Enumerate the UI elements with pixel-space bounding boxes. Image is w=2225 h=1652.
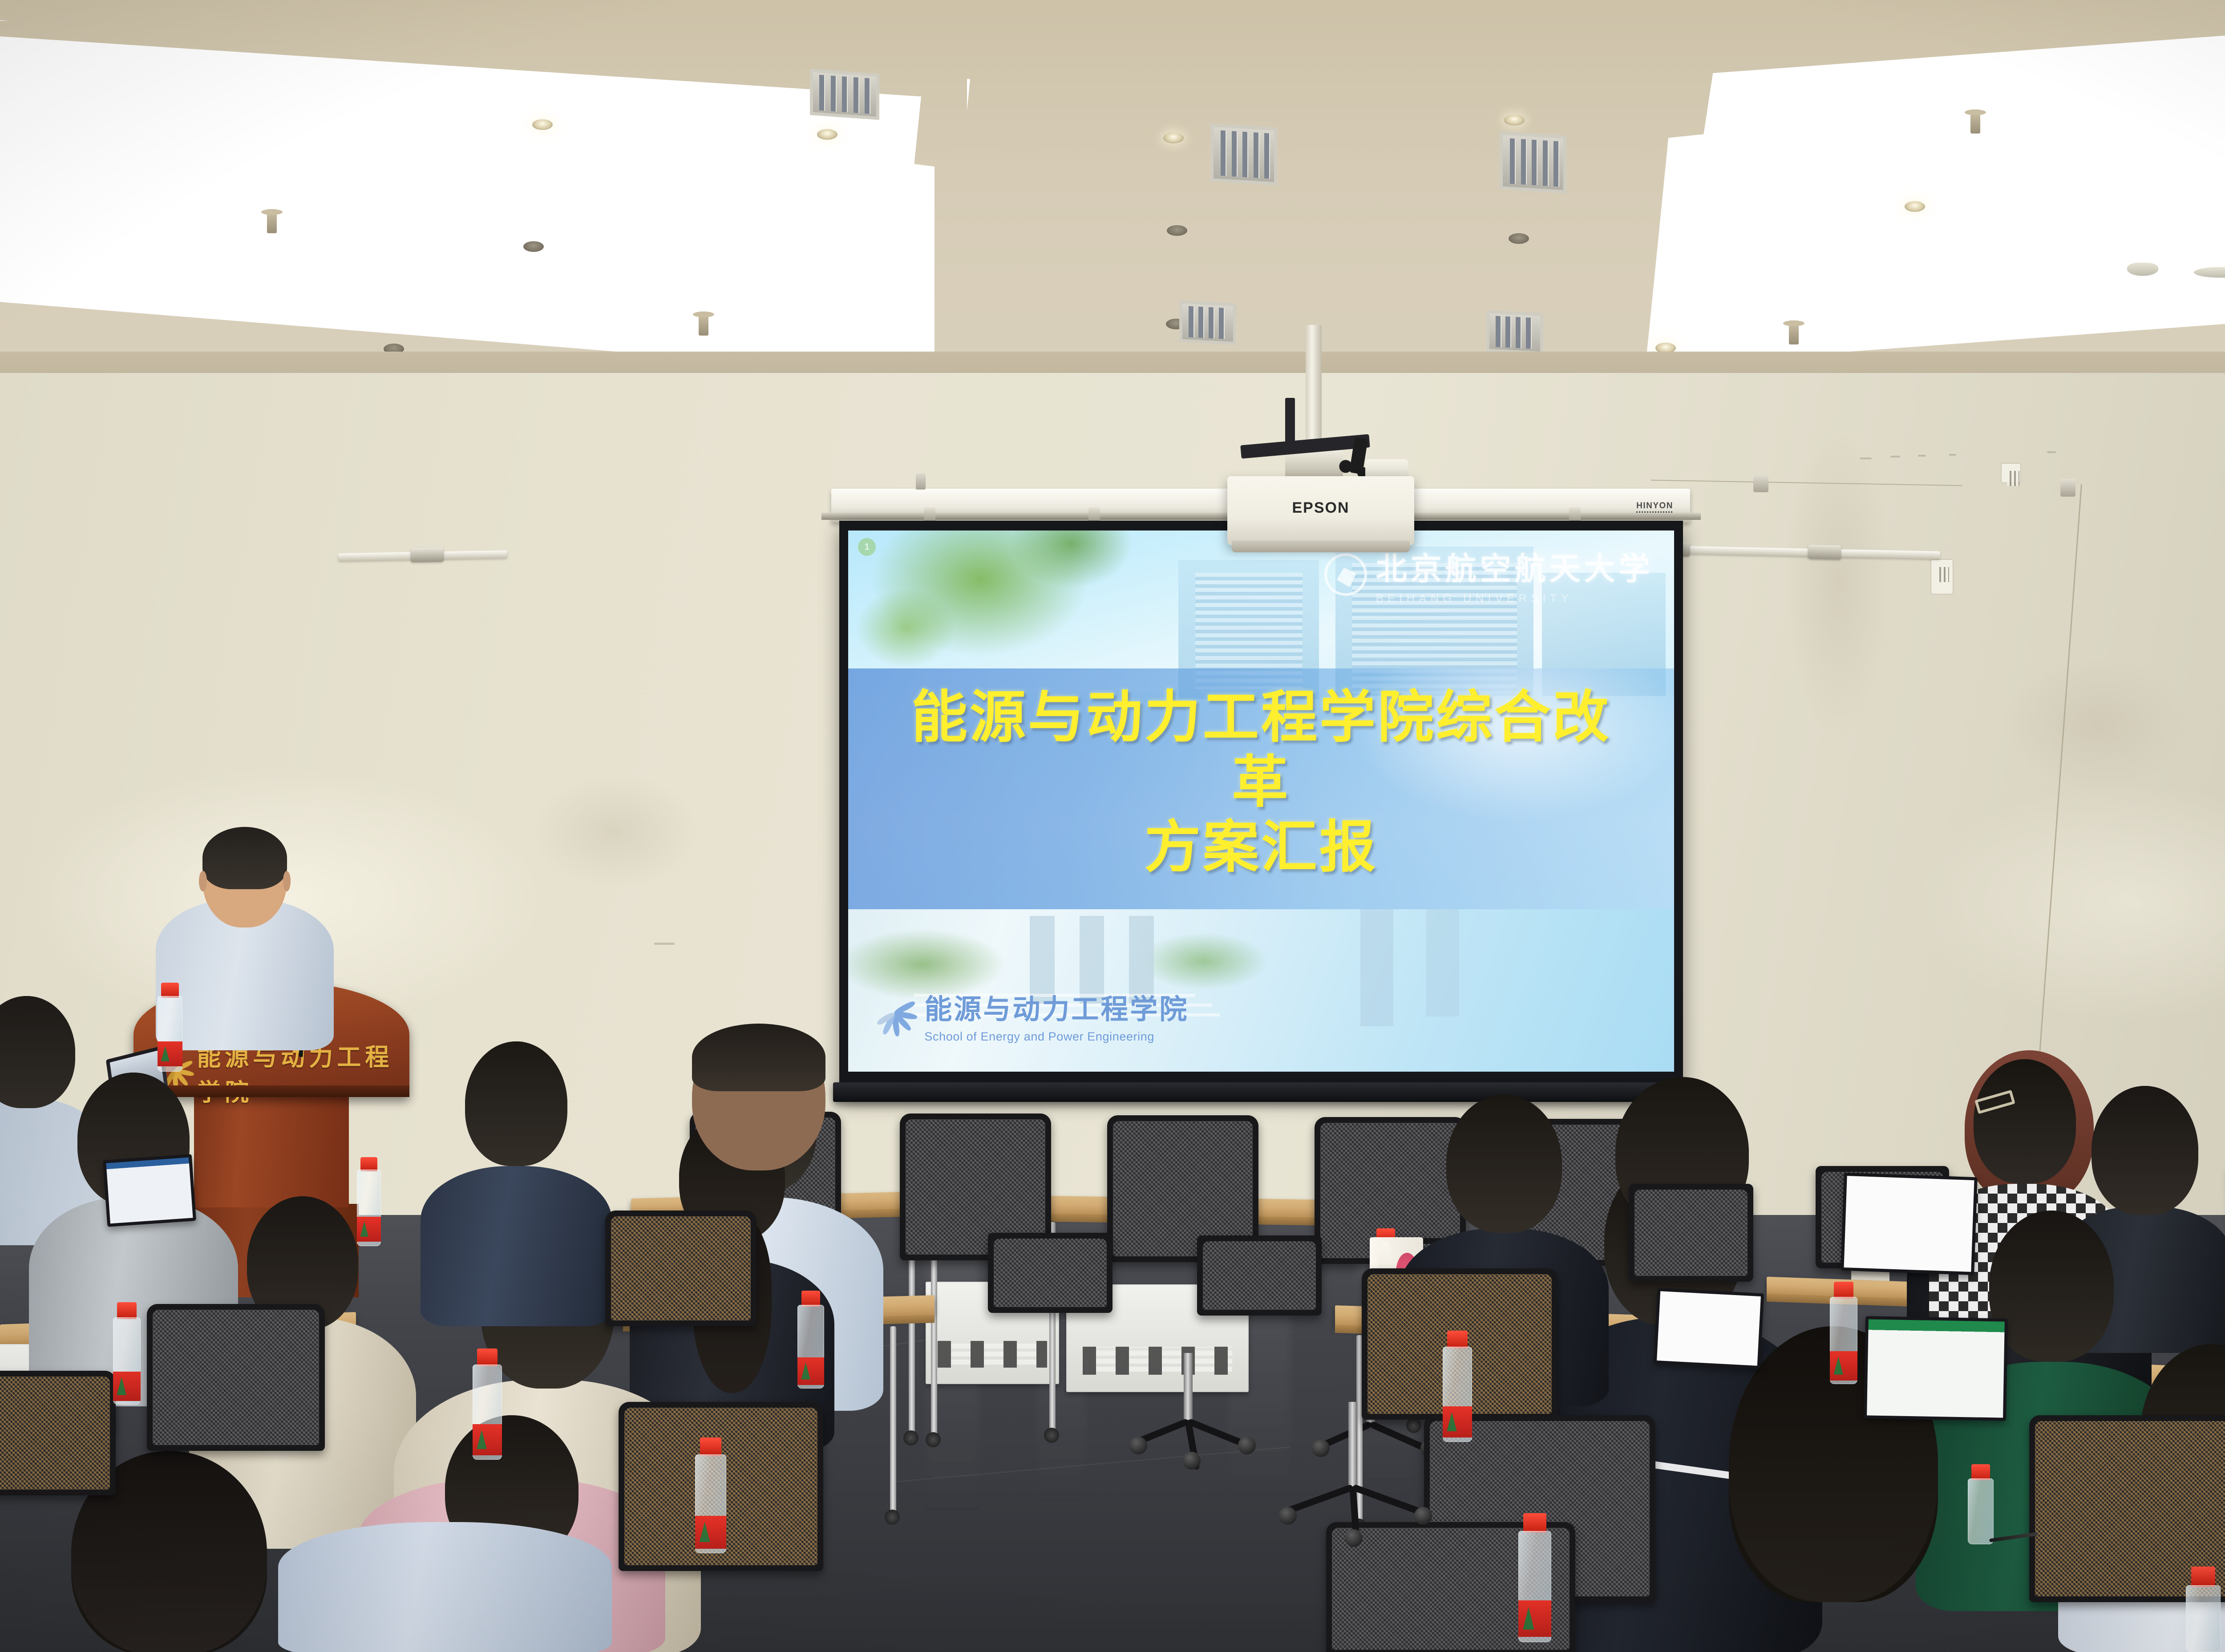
hvac-vent: [1500, 131, 1566, 193]
water-bottle[interactable]: [797, 1291, 825, 1389]
desk-caster: [926, 1432, 941, 1447]
audience-head: [1446, 1095, 1562, 1233]
hvac-vent: [1210, 123, 1277, 185]
projector-brand-label: EPSON: [1227, 499, 1414, 517]
desk-caster: [885, 1510, 900, 1525]
school-logo: 能源与动力工程学院 School of Energy and Power Eng…: [874, 987, 1189, 1044]
sprinkler-head: [1789, 320, 1799, 344]
water-bottle[interactable]: [472, 1348, 503, 1460]
projector-mount-fin: [1285, 398, 1295, 447]
slide-title: 能源与动力工程学院综合改革 方案汇报: [898, 685, 1624, 880]
ceiling-light-panel: [1646, 102, 2011, 356]
ceiling-downlight: [1905, 201, 1925, 212]
audience-member: [276, 1513, 614, 1652]
projection-screen-assembly: HINYON 1: [839, 521, 1683, 1095]
wall-power-outlet[interactable]: [2001, 463, 2021, 483]
slide-page-number: 1: [858, 538, 876, 556]
audience-member: [418, 1041, 614, 1326]
school-name-en: School of Energy and Power Engineering: [924, 1030, 1189, 1044]
water-bottle[interactable]: [2185, 1567, 2221, 1652]
ceiling-projector: EPSON: [1218, 418, 1428, 565]
tucked-chair[interactable]: [1197, 1235, 1322, 1316]
water-bottle[interactable]: [1829, 1282, 1858, 1384]
laptop[interactable]: [1841, 1173, 1977, 1275]
smoke-detector: [2127, 263, 2158, 276]
laptop[interactable]: [103, 1154, 196, 1227]
school-name-cn: 能源与动力工程学院: [924, 987, 1189, 1027]
screen-frame: 1 北京航空航天大学 BEIHANG UNIVERSITY: [839, 521, 1683, 1095]
chair[interactable]: [1629, 1184, 1753, 1282]
ceiling-downlight: [523, 241, 544, 252]
sprinkler-head: [1970, 109, 1980, 134]
ceiling-downlight: [532, 119, 553, 130]
wall-power-outlet[interactable]: [1930, 559, 1954, 595]
water-bottle[interactable]: [356, 1157, 382, 1246]
hvac-vent: [810, 69, 879, 120]
chair[interactable]: [147, 1304, 325, 1451]
water-bottle[interactable]: [157, 983, 183, 1072]
screen-brand-label: HINYON: [1636, 501, 1673, 511]
water-bottle[interactable]: [1442, 1331, 1473, 1442]
water-bottle[interactable]: [112, 1302, 142, 1405]
slide-canvas: 1 北京航空航天大学 BEIHANG UNIVERSITY: [848, 530, 1674, 1072]
water-bottle[interactable]: [1967, 1464, 1994, 1544]
audience-head: [465, 1041, 567, 1166]
sprinkler-head: [699, 312, 708, 336]
laptop[interactable]: [1654, 1288, 1764, 1369]
ceiling-downlight: [1504, 115, 1525, 126]
wire-clip: [1753, 474, 1768, 492]
chair[interactable]: [0, 1371, 116, 1495]
hvac-vent: [1486, 310, 1543, 355]
leaf-logo-icon: [874, 994, 913, 1037]
water-bottle[interactable]: [1517, 1513, 1552, 1642]
chair-base: [1121, 1353, 1255, 1455]
ceiling-downlight: [817, 129, 837, 140]
slide-title-line-2: 方案汇报: [898, 815, 1624, 880]
screen-surface[interactable]: 1 北京航空航天大学 BEIHANG UNIVERSITY: [848, 530, 1674, 1072]
audience-head: [1989, 1211, 2114, 1362]
audience-head: [2091, 1086, 2198, 1215]
chair[interactable]: [605, 1211, 756, 1326]
audience-head: [692, 1024, 825, 1170]
university-name-en: BEIHANG UNIVERSITY: [1376, 591, 1654, 605]
audience-torso: [421, 1166, 612, 1326]
projector-body: EPSON: [1227, 476, 1414, 545]
ceiling-downlight: [1509, 233, 1529, 244]
laptop[interactable]: [1864, 1316, 2008, 1421]
audience-member: [685, 1024, 832, 1184]
ceiling-downlight: [1167, 225, 1187, 236]
sprinkler-head: [267, 209, 277, 233]
projector-lens-housing: [1232, 541, 1410, 552]
hvac-vent: [1179, 300, 1236, 345]
desk-caster: [1044, 1428, 1059, 1443]
water-bottle[interactable]: [694, 1437, 727, 1553]
tucked-chair[interactable]: [988, 1233, 1112, 1313]
speaker-head: [202, 827, 287, 927]
speaker-hair: [202, 827, 287, 889]
desk-caster: [903, 1430, 918, 1445]
slide-title-line-1: 能源与动力工程学院综合改革: [911, 686, 1611, 814]
desk-leg: [890, 1326, 896, 1513]
conference-room-photo: HINYON 1: [0, 0, 2225, 1652]
chair-base: [1273, 1402, 1433, 1535]
wire-clip: [2060, 479, 2075, 497]
ceiling-downlight: [1163, 133, 1184, 143]
audience-torso: [278, 1522, 612, 1652]
